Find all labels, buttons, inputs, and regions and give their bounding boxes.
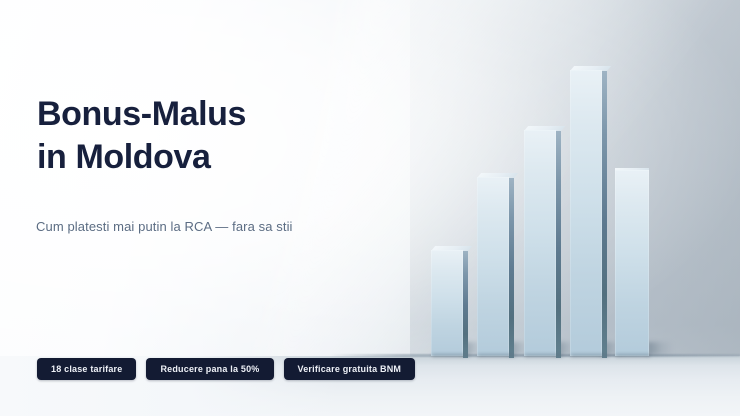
bar-shadow [647,342,673,355]
bar-side-face [463,250,468,358]
bar-front-face [431,250,463,356]
bar-contact-shadow [571,354,608,357]
bar-3 [524,130,556,356]
bar-contact-shadow [616,354,650,357]
bar-5 [615,170,649,356]
badge-row: 18 clase tarifareReducere pana la 50%Ver… [37,358,415,380]
bar-contact-shadow [525,354,562,357]
bar-front-face [477,177,509,356]
bar-side-face [602,70,607,358]
bar-front-face [524,130,556,356]
badge-2[interactable]: Reducere pana la 50% [146,358,273,380]
bar-front-face [570,70,602,356]
slide-canvas: Bonus-Malus in Moldova Cum platesti mai … [0,0,740,416]
page-title: Bonus-Malus in Moldova [37,93,246,179]
bar-4 [570,70,602,356]
badge-1[interactable]: 18 clase tarifare [37,358,136,380]
bar-chart [0,0,740,416]
bar-1 [431,250,463,356]
bar-contact-shadow [432,354,469,357]
bar-contact-shadow [478,354,515,357]
headline-line-1: Bonus-Malus [37,95,246,133]
bar-side-face [509,177,514,358]
bar-side-face [556,130,561,358]
bar-front-face [615,170,649,356]
badge-3[interactable]: Verificare gratuita BNM [284,358,416,380]
bar-2 [477,177,509,356]
subtitle-text: Cum platesti mai putin la RCA — fara sa … [36,218,293,236]
headline-line-2: in Moldova [37,138,211,176]
